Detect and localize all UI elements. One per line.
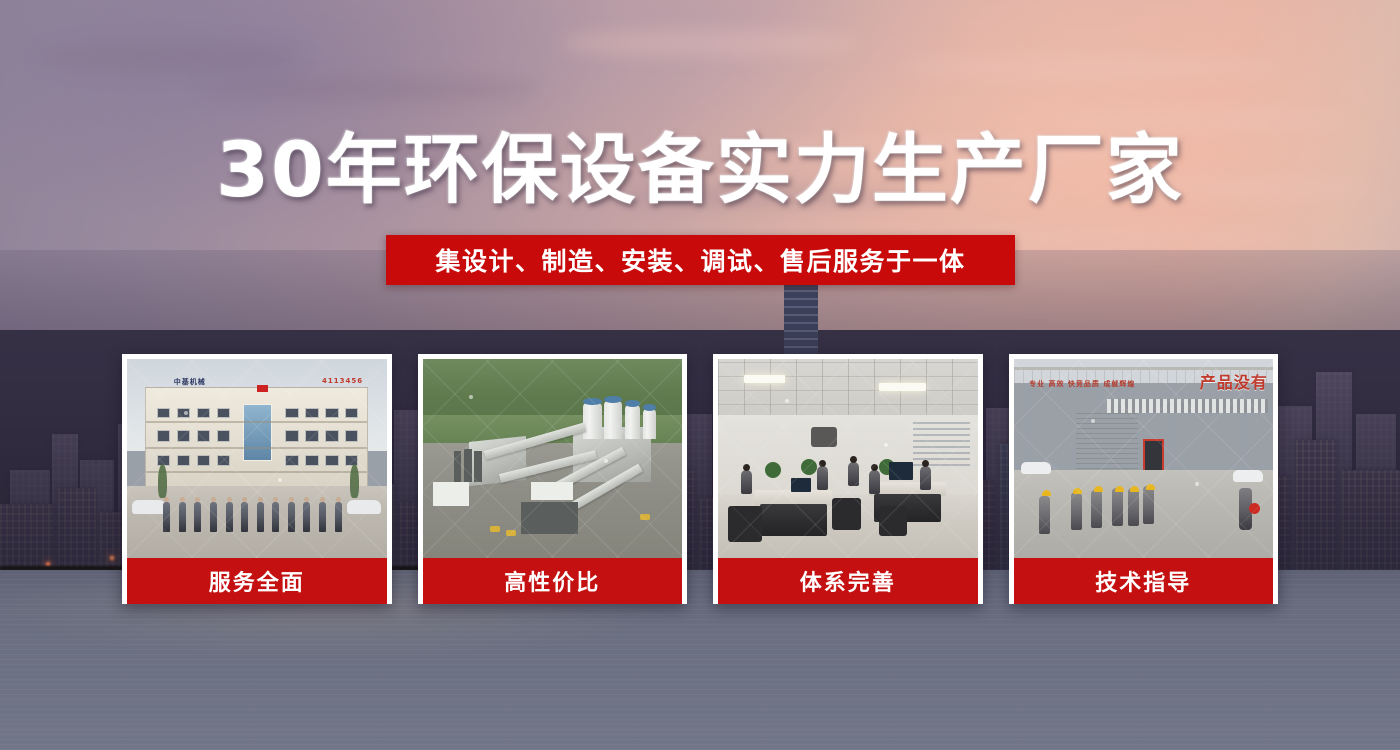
feature-card[interactable]: 中基机械 4113456 <box>122 354 392 604</box>
card-caption-text: 服务全面 <box>209 565 305 597</box>
card-caption-text: 体系完善 <box>800 565 896 597</box>
subtitle-text: 集设计、制造、安装、调试、售后服务于一体 <box>435 242 965 278</box>
card-caption-text: 技术指导 <box>1095 565 1191 597</box>
office-interior-staff-photo <box>718 359 978 558</box>
company-building-staff-photo: 中基机械 4113456 <box>127 359 387 558</box>
aerial-industrial-plant-photo <box>423 359 683 558</box>
card-caption-bar: 体系完善 <box>718 558 978 604</box>
card-caption-bar: 服务全面 <box>127 558 387 604</box>
card-caption-text: 高性价比 <box>504 565 600 597</box>
feature-card-list: 中基机械 4113456 <box>122 354 1278 604</box>
building-phone-text: 4113456 <box>322 377 363 385</box>
feature-card[interactable]: 高性价比 <box>418 354 688 604</box>
card-caption-bar: 高性价比 <box>423 558 683 604</box>
feature-card[interactable]: 产品没有 专业 高效 快竞品质 成就辉煌 <box>1009 354 1279 604</box>
page-title: 30年环保设备实力生产厂家 <box>0 128 1400 212</box>
workers-training-factory-photo: 产品没有 专业 高效 快竞品质 成就辉煌 <box>1014 359 1274 558</box>
building-sign-text: 中基机械 <box>174 377 206 387</box>
banner-stage: 30年环保设备实力生产厂家 集设计、制造、安装、调试、售后服务于一体 <box>0 0 1400 750</box>
subtitle-banner: 集设计、制造、安装、调试、售后服务于一体 <box>386 235 1015 285</box>
card-caption-bar: 技术指导 <box>1014 558 1274 604</box>
feature-card[interactable]: 体系完善 <box>713 354 983 604</box>
factory-slogan-small-text: 专业 高效 快竞品质 成就辉煌 <box>1029 379 1135 390</box>
factory-slogan-text: 产品没有 <box>1200 369 1268 393</box>
